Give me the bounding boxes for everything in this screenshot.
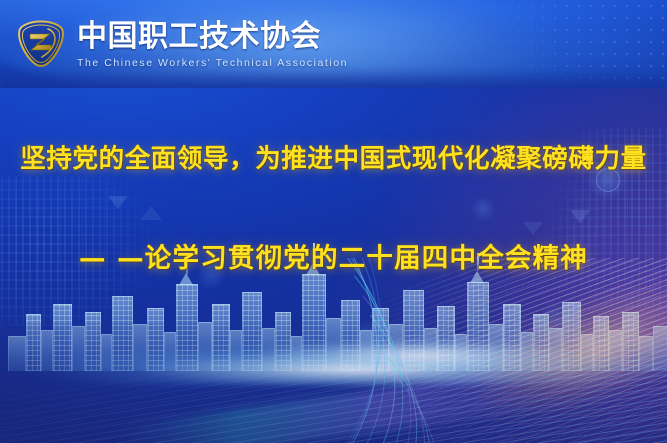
headline-block: 坚持党的全面领导，为推进中国式现代化凝聚磅礴力量 — —论学习贯彻党的二十届四中… [0,0,667,443]
main-headline: 坚持党的全面领导，为推进中国式现代化凝聚磅礴力量 [0,138,667,175]
poster-banner: 中国职工技术协会 The Chinese Workers' Technical … [0,0,667,443]
sub-headline: — —论学习贯彻党的二十届四中全会精神 [0,236,667,275]
